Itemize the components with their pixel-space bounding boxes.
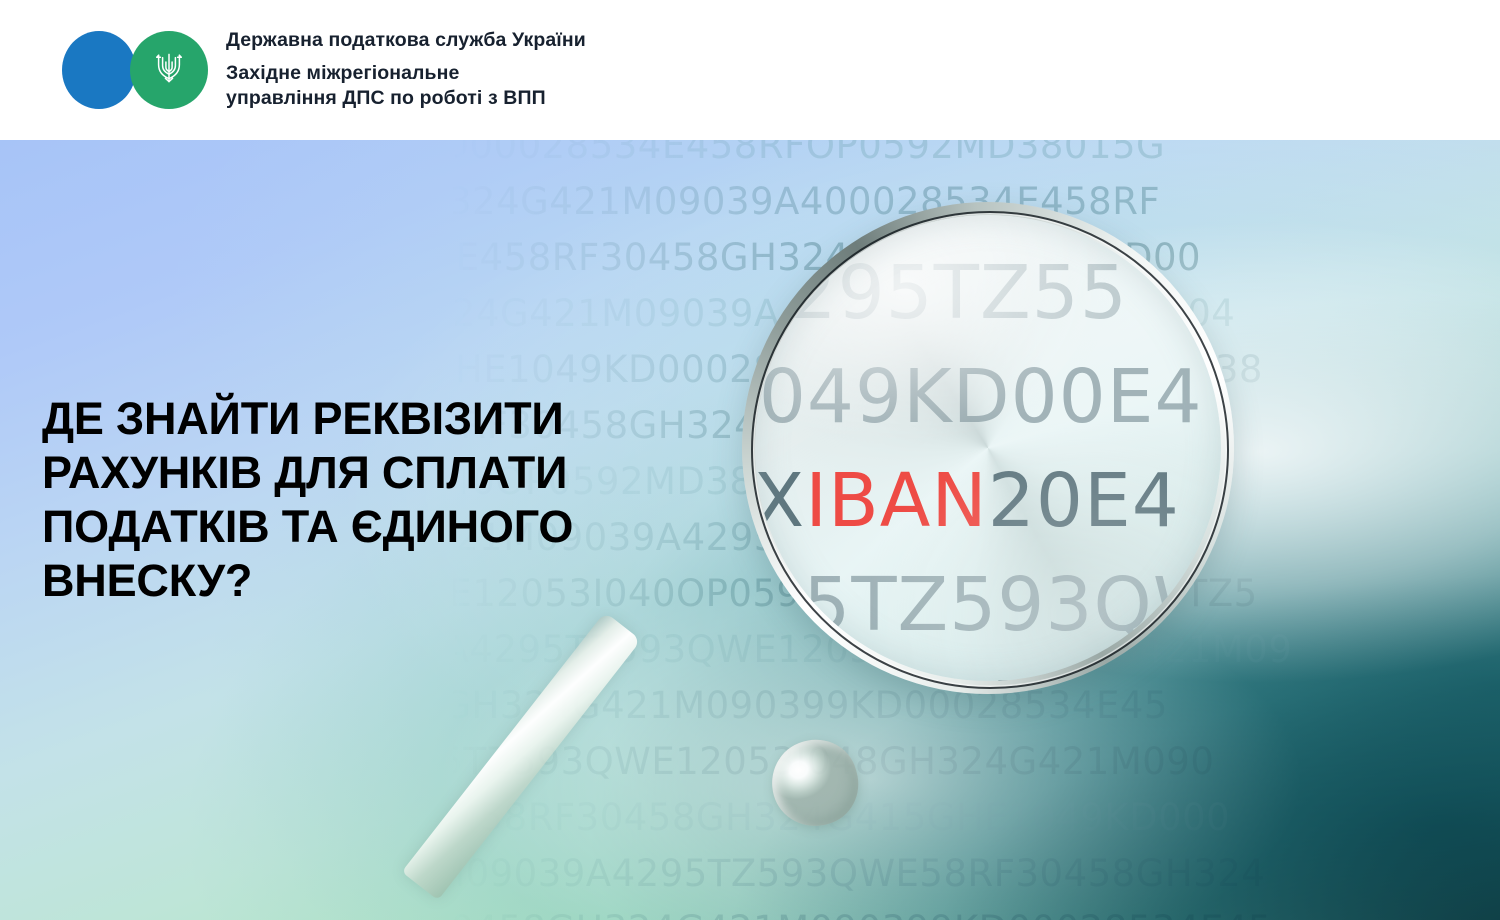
code-row: 015GHE1049KD00028534E458RF30458GH324015G…: [0, 230, 1500, 286]
org-title-regional: Західне міжрегіональне управління ДПС по…: [226, 61, 586, 111]
org-title-regional-line1: Західне міжрегіональне: [226, 61, 586, 86]
code-row: 28534E458RF30458GH324G421M09039A4295T285…: [0, 286, 1500, 342]
org-title-regional-line2: управління ДПС по роботі з ВПП: [226, 86, 586, 111]
page-title: ДЕ ЗНАЙТИ РЕКВІЗИТИ РАХУНКІВ ДЛЯ СПЛАТИ …: [42, 392, 742, 608]
headline-line-1: ДЕ ЗНАЙТИ РЕКВІЗИТИ: [42, 392, 742, 446]
site-header: Державна податкова служба України Західн…: [0, 0, 1500, 140]
code-row: 8GH324G421M09039A4295TZ593QWE12053I048GH…: [0, 734, 1500, 790]
code-row: 9KD00028534E458RF30458GH324G421M090399KD…: [12, 902, 1500, 920]
artwork-stage: OP0592MD38015GHE1049KD00028534E458RFOP05…: [0, 140, 1500, 920]
code-row: OP0592MD38015GHE1049KD00028534E458RFOP05…: [0, 140, 1500, 174]
org-title-national: Державна податкова служба України: [226, 29, 586, 51]
ukrainian-trident-icon: [154, 51, 184, 89]
code-row: 9KD00028534E458RF30458GH324G421M090399KD…: [0, 678, 1500, 734]
org-name-block: Державна податкова служба України Західн…: [226, 29, 586, 110]
code-row: 58RF30458GH324G421M09039A4295TZ593QWE58R…: [0, 846, 1500, 902]
logo-blue-circle-icon: [62, 31, 136, 109]
headline-line-3: ПОДАТКІВ ТА ЄДИНОГО: [42, 500, 742, 554]
code-row: I040OP0592MD38015GHE1049KD00028534E45I04…: [12, 342, 1500, 398]
logo-green-circle-icon: [130, 31, 208, 109]
headline-line-4: ВНЕСКУ?: [42, 554, 742, 608]
code-row: 58GH324G421M09039A4295TZ593QWE12053I058G…: [12, 622, 1500, 678]
dps-logo[interactable]: [62, 31, 208, 109]
headline-line-2: РАХУНКІВ ДЛЯ СПЛАТИ: [42, 446, 742, 500]
poster-canvas: OP0592MD38015GHE1049KD00028534E458RFOP05…: [0, 0, 1500, 920]
code-row: 00028534E458RF30458GH324G421M09039A40002…: [0, 174, 1500, 230]
code-row: 15GHE1049KD00028534E458RF30458GH324G415G…: [0, 790, 1500, 846]
